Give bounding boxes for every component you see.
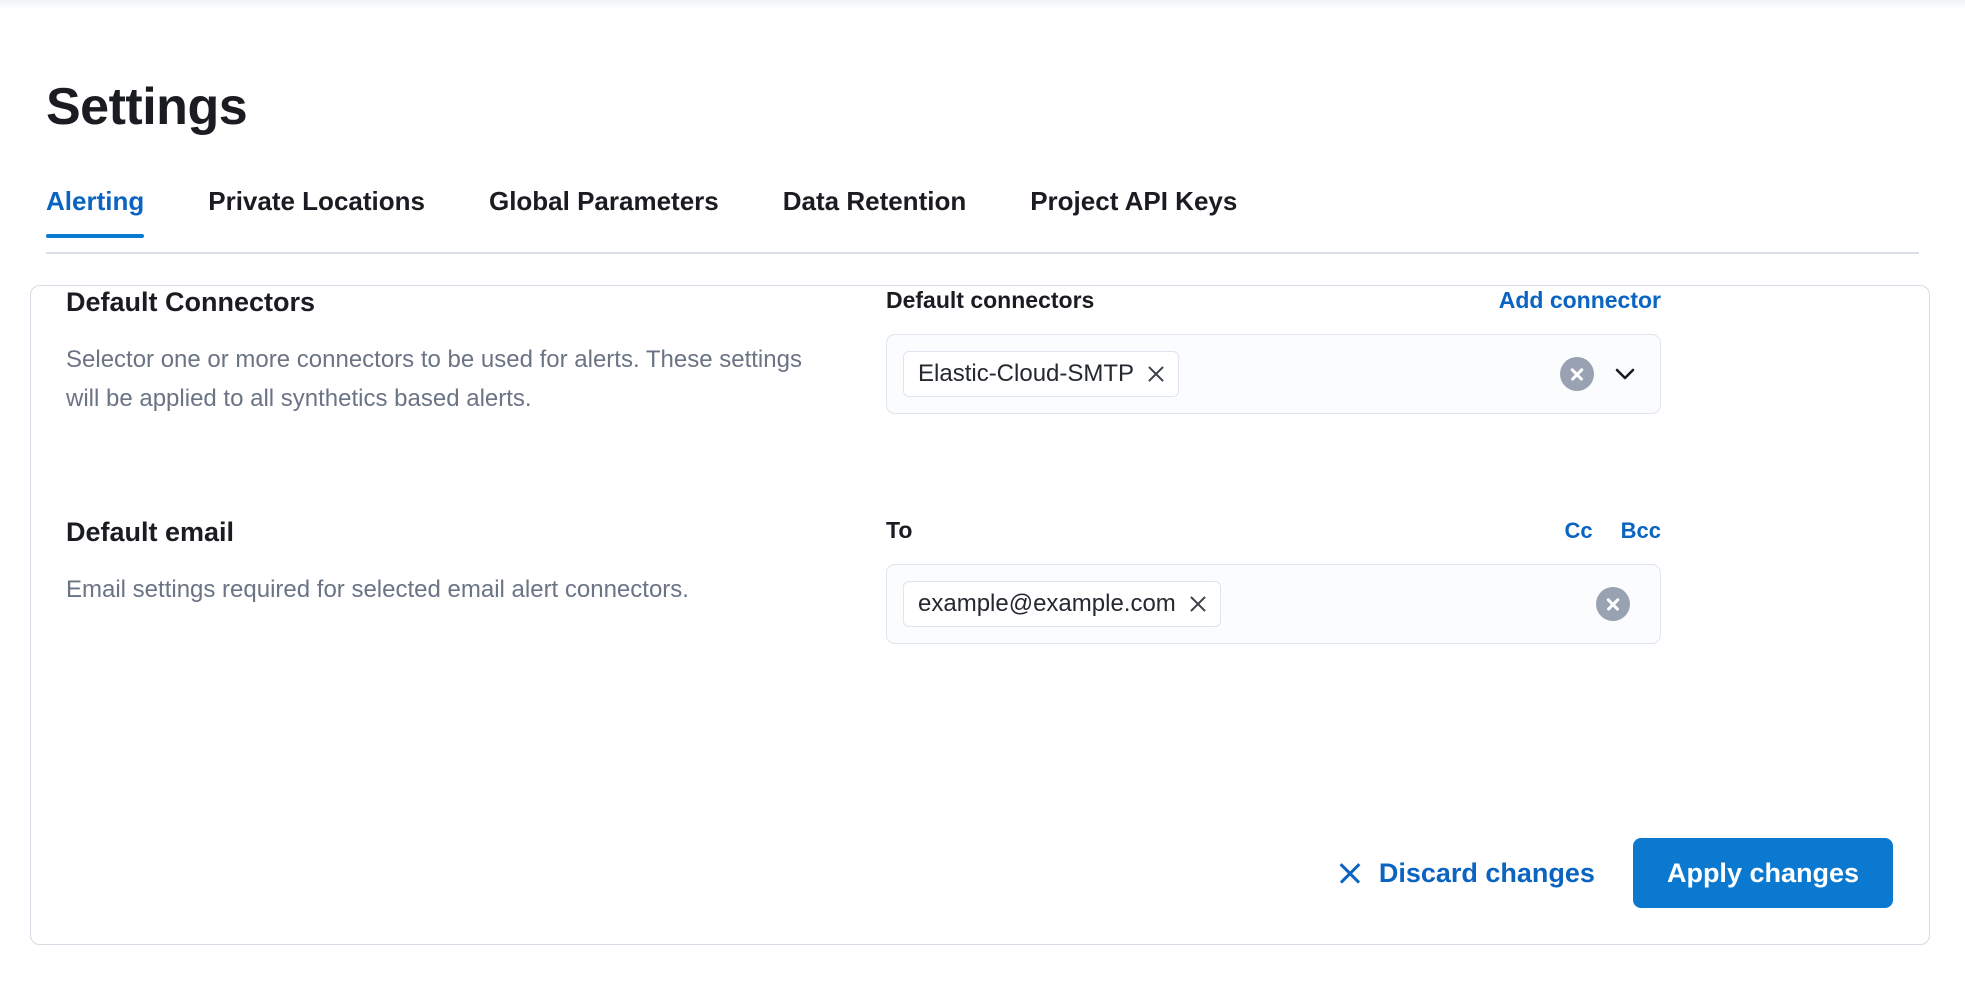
- tab-project-api-keys-label: Project API Keys: [1030, 186, 1237, 216]
- apply-changes-button[interactable]: Apply changes: [1633, 838, 1893, 908]
- settings-tabs: Alerting Private Locations Global Parame…: [46, 186, 1919, 254]
- email-section-title: Default email: [66, 516, 826, 548]
- connectors-field-header: Default connectors Add connector: [886, 286, 1661, 320]
- email-to-combobox[interactable]: example@example.com: [886, 564, 1661, 644]
- email-description-block: Default email Email settings required fo…: [66, 516, 826, 609]
- chevron-down-icon[interactable]: [1610, 359, 1640, 389]
- default-connectors-combobox[interactable]: Elastic-Cloud-SMTP: [886, 334, 1661, 414]
- connectors-section-description: Selector one or more connectors to be us…: [66, 340, 806, 418]
- tab-data-retention[interactable]: Data Retention: [783, 186, 966, 238]
- connectors-description-block: Default Connectors Selector one or more …: [66, 286, 826, 418]
- tab-alerting[interactable]: Alerting: [46, 186, 144, 238]
- email-field-header: To Cc Bcc: [886, 516, 1661, 550]
- tab-global-parameters-label: Global Parameters: [489, 186, 719, 216]
- page-title: Settings: [46, 77, 247, 137]
- card-action-bar: Discard changes Apply changes: [1329, 838, 1893, 908]
- tab-private-locations-label: Private Locations: [208, 186, 425, 216]
- email-field-block: To Cc Bcc example@example.com: [886, 516, 1661, 644]
- email-section-description: Email settings required for selected ema…: [66, 570, 806, 609]
- discard-changes-label: Discard changes: [1379, 857, 1595, 889]
- settings-page: Settings Alerting Private Locations Glob…: [0, 0, 1965, 989]
- discard-changes-button[interactable]: Discard changes: [1329, 847, 1603, 899]
- clear-circle-icon[interactable]: [1560, 357, 1594, 391]
- tab-data-retention-label: Data Retention: [783, 186, 966, 216]
- email-recipient-label: example@example.com: [918, 581, 1176, 627]
- connectors-field-block: Default connectors Add connector Elastic…: [886, 286, 1661, 414]
- remove-connector-icon[interactable]: [1146, 364, 1166, 384]
- tab-private-locations[interactable]: Private Locations: [208, 186, 425, 238]
- connector-pill-label: Elastic-Cloud-SMTP: [918, 351, 1134, 397]
- clear-circle-icon[interactable]: [1596, 587, 1630, 621]
- add-connector-link[interactable]: Add connector: [1499, 286, 1661, 314]
- tab-global-parameters[interactable]: Global Parameters: [489, 186, 719, 238]
- email-field-actions: Cc Bcc: [1565, 517, 1661, 545]
- connectors-section-title: Default Connectors: [66, 286, 826, 318]
- connectors-field-actions: Add connector: [1499, 286, 1661, 314]
- email-to-label: To: [886, 516, 912, 544]
- settings-card: Default Connectors Selector one or more …: [30, 285, 1930, 945]
- bcc-link[interactable]: Bcc: [1621, 517, 1661, 545]
- tab-alerting-label: Alerting: [46, 186, 144, 216]
- tabs-divider: [46, 252, 1919, 254]
- cc-link[interactable]: Cc: [1565, 517, 1593, 545]
- tab-project-api-keys[interactable]: Project API Keys: [1030, 186, 1237, 238]
- connectors-field-label: Default connectors: [886, 286, 1094, 314]
- remove-recipient-icon[interactable]: [1188, 594, 1208, 614]
- email-recipient-pill[interactable]: example@example.com: [903, 581, 1221, 627]
- close-x-icon: [1337, 860, 1363, 886]
- connector-pill[interactable]: Elastic-Cloud-SMTP: [903, 351, 1179, 397]
